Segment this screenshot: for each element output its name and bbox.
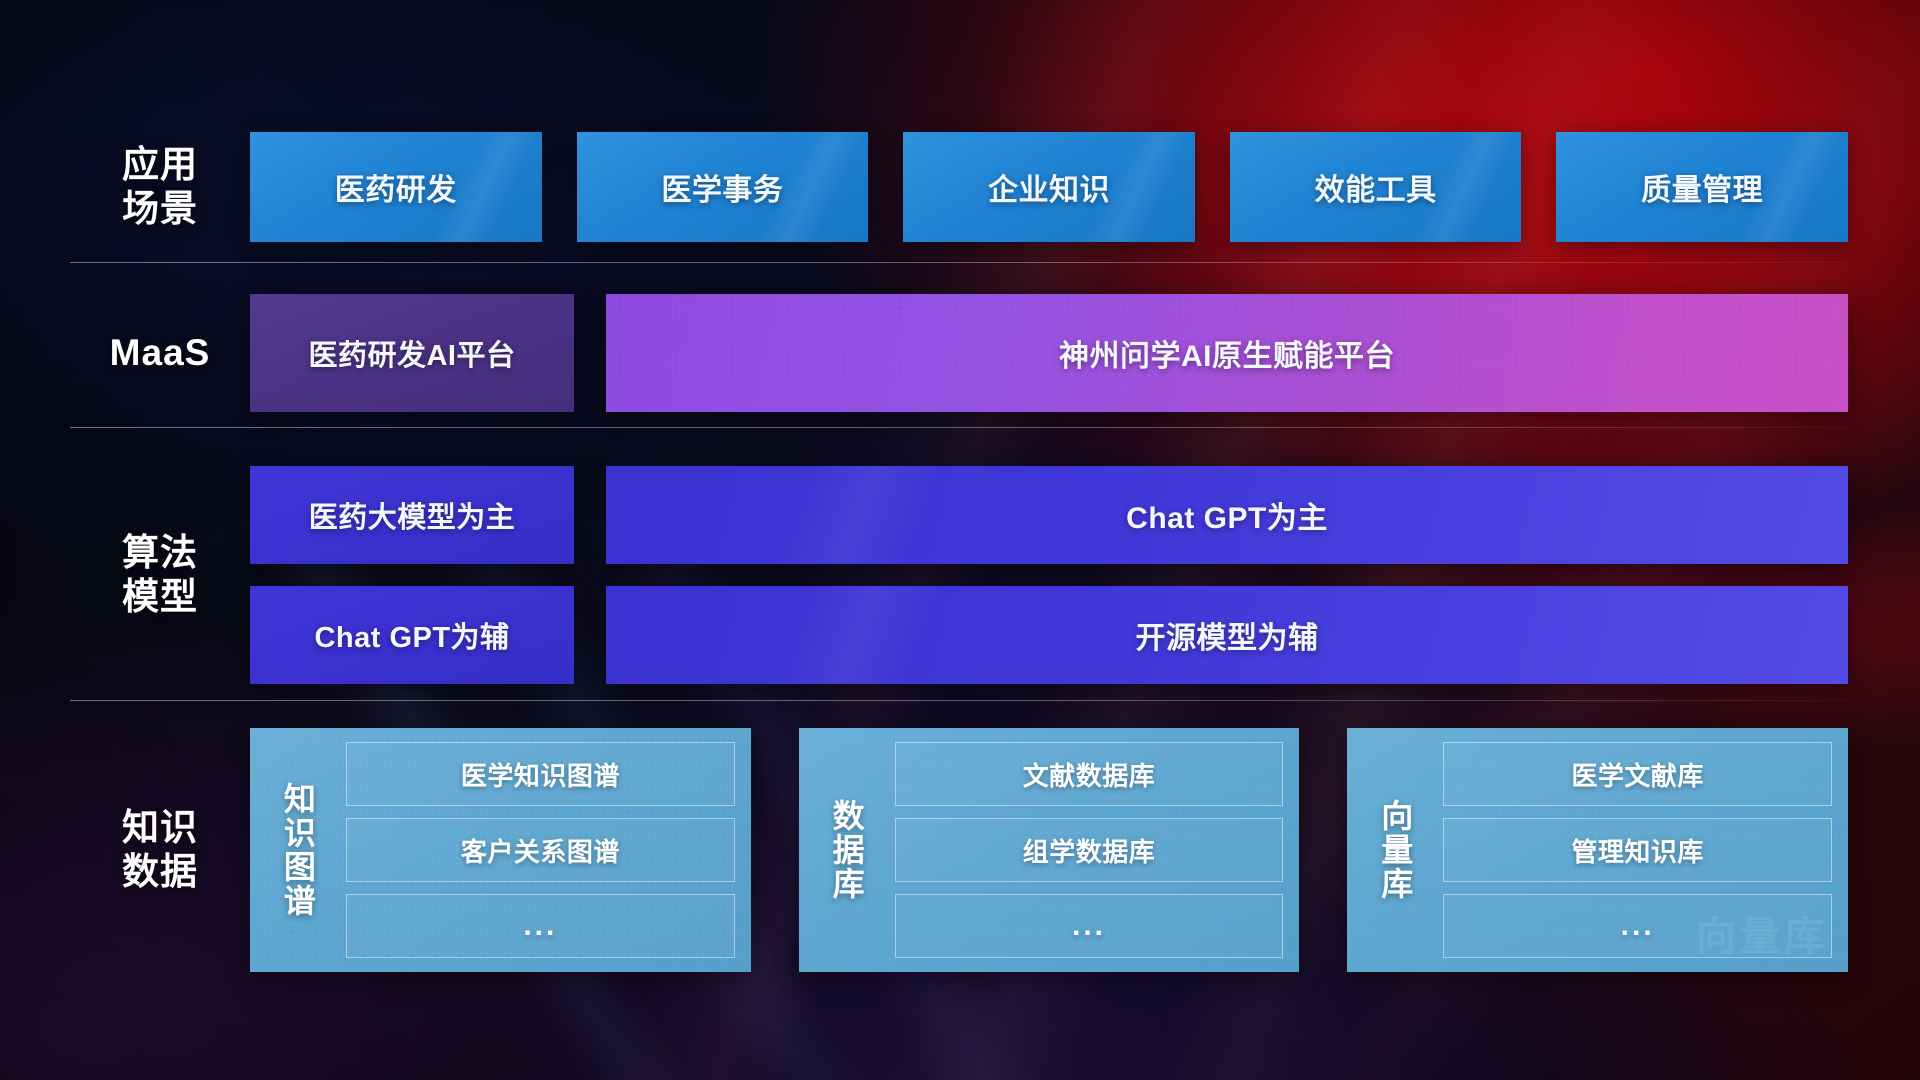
knowledge-panel-item-more[interactable]: ... bbox=[346, 894, 735, 958]
knowledge-panel-item-label: 医学文献库 bbox=[1571, 756, 1704, 793]
knowledge-panel-item[interactable]: 医学文献库 bbox=[1443, 742, 1832, 806]
knowledge-panel-knowledge-graph[interactable]: 知识图谱 医学知识图谱 客户关系图谱 ... bbox=[250, 728, 751, 972]
app-box-enterprise-knowledge[interactable]: 企业知识 bbox=[903, 132, 1195, 242]
algorithm-line-secondary: Chat GPT为辅 开源模型为辅 bbox=[250, 586, 1848, 684]
knowledge-panel-database[interactable]: 数据库 文献数据库 组学数据库 ... bbox=[799, 728, 1300, 972]
algo-box-chatgpt-primary[interactable]: Chat GPT为主 bbox=[606, 466, 1848, 564]
app-box-label: 医药研发 bbox=[335, 165, 457, 209]
knowledge-panel-item-label: 管理知识库 bbox=[1571, 832, 1704, 869]
maas-box-shenzhou-wenxue-platform[interactable]: 神州问学AI原生赋能平台 bbox=[606, 294, 1848, 412]
row-label-maas: MaaS bbox=[70, 331, 250, 375]
knowledge-panel-vector-store[interactable]: 向量库 医学文献库 管理知识库 ... bbox=[1347, 728, 1848, 972]
algo-box-pharma-llm-primary[interactable]: 医药大模型为主 bbox=[250, 466, 574, 564]
algo-box-label: 开源模型为辅 bbox=[1136, 613, 1319, 657]
maas-body: 医药研发AI平台 神州问学AI原生赋能平台 bbox=[250, 294, 1848, 412]
knowledge-panel-item-more[interactable]: ... bbox=[1443, 894, 1832, 958]
row-label-application-scenarios: 应用 场景 bbox=[70, 143, 250, 230]
row-label-algorithm-models: 算法 模型 bbox=[70, 531, 250, 618]
knowledge-panel-item-list: 医学知识图谱 客户关系图谱 ... bbox=[328, 742, 735, 958]
knowledge-panel-item-more[interactable]: ... bbox=[895, 894, 1284, 958]
algo-box-label: Chat GPT为辅 bbox=[314, 614, 509, 656]
knowledge-panel-title: 知识图谱 bbox=[266, 742, 328, 958]
app-box-label: 效能工具 bbox=[1315, 165, 1437, 209]
knowledge-panel-item[interactable]: 组学数据库 bbox=[895, 818, 1284, 882]
app-box-label: 质量管理 bbox=[1641, 165, 1763, 209]
algo-box-chatgpt-secondary[interactable]: Chat GPT为辅 bbox=[250, 586, 574, 684]
divider-applications-maas bbox=[70, 262, 1848, 263]
maas-box-label: 医药研发AI平台 bbox=[308, 332, 515, 374]
slide-canvas: 应用 场景 医药研发 医学事务 企业知识 效能工具 bbox=[0, 0, 1920, 1080]
application-box-track: 医药研发 医学事务 企业知识 效能工具 质量管理 bbox=[250, 132, 1848, 242]
knowledge-panel-item[interactable]: 管理知识库 bbox=[1443, 818, 1832, 882]
knowledge-panel-item-label: 医学知识图谱 bbox=[461, 756, 620, 793]
app-box-medical-affairs[interactable]: 医学事务 bbox=[577, 132, 869, 242]
knowledge-panel-item-list: 医学文献库 管理知识库 ... bbox=[1425, 742, 1832, 958]
maas-box-track: 医药研发AI平台 神州问学AI原生赋能平台 bbox=[250, 294, 1848, 412]
architecture-diagram: 应用 场景 医药研发 医学事务 企业知识 效能工具 bbox=[0, 0, 1920, 1080]
row-algorithm-models: 算法 模型 医药大模型为主 Chat GPT为主 Chat GPT为辅 bbox=[70, 455, 1848, 695]
knowledge-panel-item-label: ... bbox=[1621, 909, 1655, 943]
knowledge-panel-item-label: 文献数据库 bbox=[1023, 756, 1156, 793]
row-application-scenarios: 应用 场景 医药研发 医学事务 企业知识 效能工具 bbox=[70, 128, 1848, 246]
knowledge-panel-title: 数据库 bbox=[815, 742, 877, 958]
knowledge-panel-item[interactable]: 文献数据库 bbox=[895, 742, 1284, 806]
knowledge-panel-item[interactable]: 客户关系图谱 bbox=[346, 818, 735, 882]
app-box-label: 企业知识 bbox=[988, 165, 1110, 209]
app-box-label: 医学事务 bbox=[661, 165, 783, 209]
knowledge-panel-item-label: ... bbox=[523, 909, 557, 943]
app-box-quality-management[interactable]: 质量管理 bbox=[1556, 132, 1848, 242]
algorithm-line-primary: 医药大模型为主 Chat GPT为主 bbox=[250, 466, 1848, 564]
algorithm-models-body: 医药大模型为主 Chat GPT为主 Chat GPT为辅 开源模型为辅 bbox=[250, 466, 1848, 684]
row-maas: MaaS 医药研发AI平台 神州问学AI原生赋能平台 bbox=[70, 292, 1848, 414]
row-label-knowledge-data: 知识 数据 bbox=[70, 806, 250, 893]
divider-maas-algorithms bbox=[70, 427, 1848, 428]
maas-box-pharma-ai-platform[interactable]: 医药研发AI平台 bbox=[250, 294, 574, 412]
knowledge-panel-item[interactable]: 医学知识图谱 bbox=[346, 742, 735, 806]
knowledge-panel-item-label: 客户关系图谱 bbox=[461, 832, 620, 869]
knowledge-data-body: 知识图谱 医学知识图谱 客户关系图谱 ... bbox=[250, 728, 1848, 972]
algo-box-label: Chat GPT为主 bbox=[1126, 493, 1328, 537]
knowledge-panel-item-label: 组学数据库 bbox=[1023, 832, 1156, 869]
knowledge-panel-item-label: ... bbox=[1072, 909, 1106, 943]
app-box-medicine-rd[interactable]: 医药研发 bbox=[250, 132, 542, 242]
application-scenarios-body: 医药研发 医学事务 企业知识 效能工具 质量管理 bbox=[250, 132, 1848, 242]
app-box-efficiency-tools[interactable]: 效能工具 bbox=[1230, 132, 1522, 242]
knowledge-panel-title: 向量库 bbox=[1363, 742, 1425, 958]
algorithm-box-grid: 医药大模型为主 Chat GPT为主 Chat GPT为辅 开源模型为辅 bbox=[250, 466, 1848, 684]
knowledge-panel-item-list: 文献数据库 组学数据库 ... bbox=[877, 742, 1284, 958]
maas-box-label: 神州问学AI原生赋能平台 bbox=[1059, 331, 1395, 375]
algo-box-opensource-secondary[interactable]: 开源模型为辅 bbox=[606, 586, 1848, 684]
knowledge-panel-track: 知识图谱 医学知识图谱 客户关系图谱 ... bbox=[250, 728, 1848, 972]
row-knowledge-data: 知识 数据 知识图谱 医学知识图谱 客户关系图谱 bbox=[70, 725, 1848, 975]
divider-algorithms-knowledge bbox=[70, 700, 1848, 701]
algo-box-label: 医药大模型为主 bbox=[309, 494, 516, 536]
